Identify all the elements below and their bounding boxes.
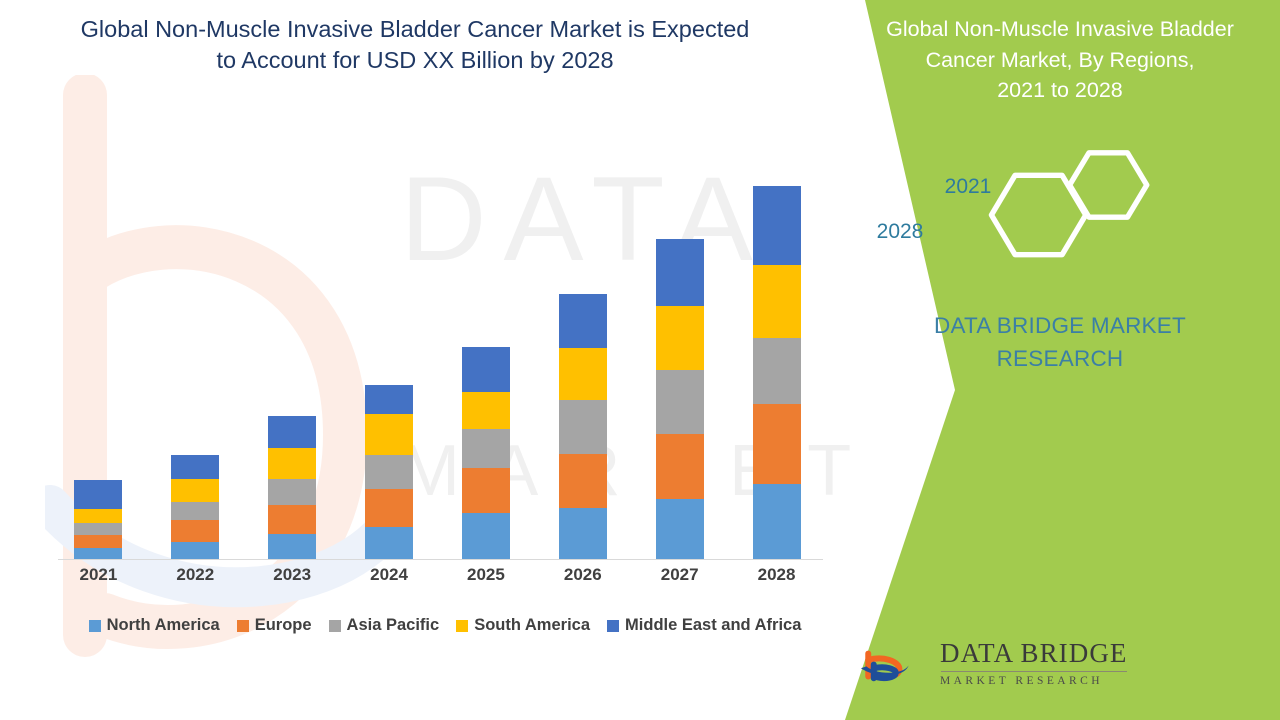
page-title-line-1: Global Non-Muscle Invasive Bladder Cance… bbox=[81, 16, 750, 42]
bar-segment bbox=[559, 294, 607, 348]
bar-segment bbox=[268, 416, 316, 448]
brand-name: DATA BRIDGE MARKET RESEARCH bbox=[860, 310, 1260, 375]
x-tick-2027: 2027 bbox=[631, 565, 728, 585]
legend-label: North America bbox=[107, 616, 220, 635]
logo-divider bbox=[941, 671, 1127, 672]
stacked-bar-2023[interactable] bbox=[268, 416, 316, 559]
bar-segment bbox=[559, 348, 607, 401]
right-info-panel: Global Non-Muscle Invasive Bladder Cance… bbox=[830, 0, 1280, 720]
bar-segment bbox=[559, 400, 607, 454]
bar-segment bbox=[365, 489, 413, 527]
stacked-bar-chart bbox=[50, 150, 825, 560]
legend-item-europe[interactable]: Europe bbox=[237, 616, 312, 635]
bar-slot bbox=[631, 150, 728, 559]
bar-slot bbox=[728, 150, 825, 559]
legend-label: South America bbox=[474, 616, 590, 635]
bar-segment bbox=[462, 429, 510, 468]
bar-segment bbox=[656, 370, 704, 435]
bar-segment bbox=[462, 347, 510, 393]
x-tick-2025: 2025 bbox=[438, 565, 535, 585]
legend-label: Middle East and Africa bbox=[625, 616, 801, 635]
x-tick-2026: 2026 bbox=[534, 565, 631, 585]
stacked-bar-2027[interactable] bbox=[656, 239, 704, 559]
bar-slot bbox=[50, 150, 147, 559]
bar-segment bbox=[365, 455, 413, 489]
bar-segment bbox=[462, 513, 510, 559]
stacked-bar-2028[interactable] bbox=[753, 186, 801, 559]
brand-line-2: RESEARCH bbox=[997, 346, 1124, 371]
hexagon-pair-graphic bbox=[960, 140, 1190, 290]
legend-item-south-america[interactable]: South America bbox=[456, 616, 590, 635]
right-panel-content: Global Non-Muscle Invasive Bladder Cance… bbox=[830, 0, 1280, 720]
stacked-bar-2024[interactable] bbox=[365, 385, 413, 559]
bar-segment bbox=[171, 542, 219, 559]
slide-canvas: DATA MARKET RESEARCH Global Non-Muscle I… bbox=[0, 0, 1280, 720]
x-tick-2021: 2021 bbox=[50, 565, 147, 585]
panel-title-line-2: Cancer Market, By Regions, bbox=[926, 48, 1195, 72]
panel-title: Global Non-Muscle Invasive Bladder Cance… bbox=[858, 14, 1262, 106]
page-title: Global Non-Muscle Invasive Bladder Cance… bbox=[35, 14, 795, 76]
bar-segment bbox=[753, 484, 801, 559]
panel-title-line-1: Global Non-Muscle Invasive Bladder bbox=[886, 17, 1234, 41]
legend-swatch-icon bbox=[456, 620, 468, 632]
chart-legend: North AmericaEuropeAsia PacificSouth Ame… bbox=[50, 616, 840, 635]
bar-segment bbox=[74, 509, 122, 523]
bar-segment bbox=[74, 548, 122, 559]
bar-segment bbox=[753, 186, 801, 265]
bar-segment bbox=[171, 455, 219, 479]
bar-slot bbox=[341, 150, 438, 559]
legend-label: Europe bbox=[255, 616, 312, 635]
bar-segment bbox=[753, 404, 801, 484]
bar-segment bbox=[656, 239, 704, 306]
bar-slot bbox=[438, 150, 535, 559]
logo-main-text: DATA BRIDGE bbox=[940, 638, 1127, 669]
bar-segment bbox=[365, 527, 413, 559]
legend-swatch-icon bbox=[607, 620, 619, 632]
bar-segment bbox=[462, 468, 510, 513]
x-tick-2023: 2023 bbox=[244, 565, 341, 585]
bar-segment bbox=[171, 520, 219, 542]
bar-slot bbox=[147, 150, 244, 559]
stacked-bar-2021[interactable] bbox=[74, 480, 122, 559]
bar-segment bbox=[753, 265, 801, 338]
bar-segment bbox=[365, 414, 413, 455]
bar-segment bbox=[171, 502, 219, 520]
legend-swatch-icon bbox=[237, 620, 249, 632]
bar-slot bbox=[534, 150, 631, 559]
stacked-bar-2022[interactable] bbox=[171, 455, 219, 559]
bar-segment bbox=[559, 508, 607, 559]
logo-wordmark: DATA BRIDGE MARKET RESEARCH bbox=[940, 638, 1127, 687]
bar-segment bbox=[268, 505, 316, 534]
logo-sub-text: MARKET RESEARCH bbox=[940, 675, 1127, 687]
bar-segment bbox=[656, 499, 704, 559]
bar-segment bbox=[559, 454, 607, 508]
hexagon-label-2021: 2021 bbox=[928, 175, 1008, 199]
bar-segment bbox=[268, 479, 316, 505]
bar-segment bbox=[365, 385, 413, 414]
brand-line-1: DATA BRIDGE MARKET bbox=[934, 313, 1186, 338]
legend-item-north-america[interactable]: North America bbox=[89, 616, 220, 635]
legend-label: Asia Pacific bbox=[347, 616, 440, 635]
bar-segment bbox=[74, 480, 122, 509]
bar-segment bbox=[171, 479, 219, 502]
stacked-bar-2025[interactable] bbox=[462, 347, 510, 559]
legend-swatch-icon bbox=[329, 620, 341, 632]
bar-segment bbox=[268, 534, 316, 559]
legend-item-asia-pacific[interactable]: Asia Pacific bbox=[329, 616, 440, 635]
chart-pane: Global Non-Muscle Invasive Bladder Cance… bbox=[0, 0, 870, 720]
hexagon-label-2028: 2028 bbox=[860, 220, 940, 244]
x-tick-2024: 2024 bbox=[341, 565, 438, 585]
panel-title-line-3: 2021 to 2028 bbox=[997, 78, 1123, 102]
x-axis-tick-labels: 20212022202320242025202620272028 bbox=[50, 565, 825, 585]
legend-swatch-icon bbox=[89, 620, 101, 632]
bar-segment bbox=[74, 523, 122, 535]
legend-item-middle-east-and-africa[interactable]: Middle East and Africa bbox=[607, 616, 801, 635]
bar-segment bbox=[656, 306, 704, 370]
stacked-bar-2026[interactable] bbox=[559, 294, 607, 559]
bar-segment bbox=[462, 392, 510, 429]
bar-segment bbox=[753, 338, 801, 405]
bar-segment bbox=[656, 434, 704, 499]
hexagon-2021-outline bbox=[1070, 153, 1147, 217]
x-axis-line bbox=[58, 559, 823, 560]
bar-segment bbox=[268, 448, 316, 479]
bar-slot bbox=[244, 150, 341, 559]
bar-group bbox=[50, 150, 825, 559]
x-tick-2028: 2028 bbox=[728, 565, 825, 585]
bar-segment bbox=[74, 535, 122, 548]
x-tick-2022: 2022 bbox=[147, 565, 244, 585]
page-title-line-2: to Account for USD XX Billion by 2028 bbox=[216, 47, 613, 73]
